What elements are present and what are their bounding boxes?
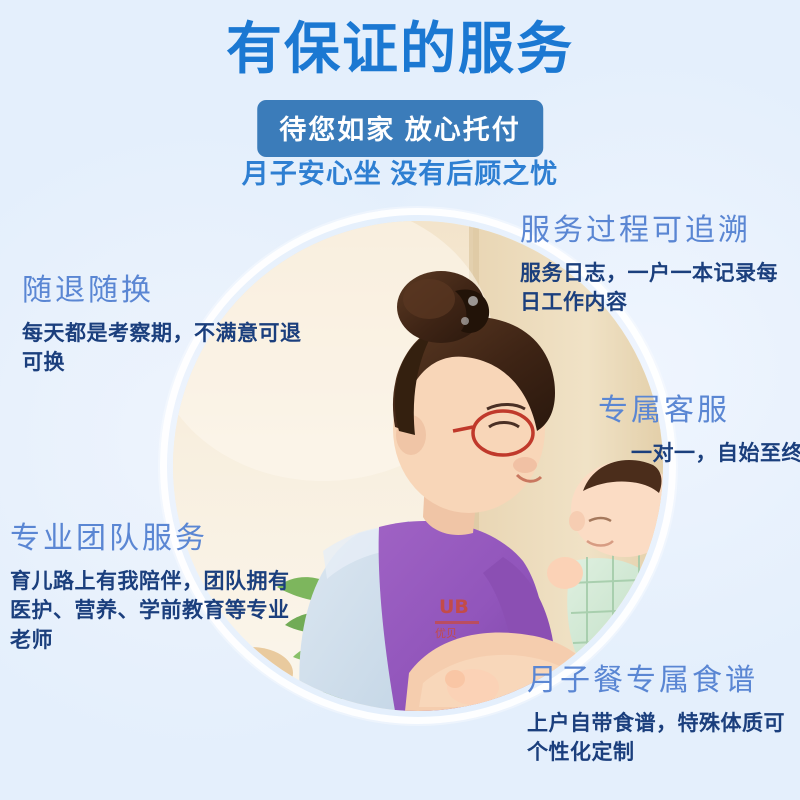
feature-trace-heading: 服务过程可追溯 bbox=[520, 212, 795, 250]
feature-team-heading: 专业团队服务 bbox=[10, 520, 300, 558]
feature-meal-heading: 月子餐专属食谱 bbox=[527, 662, 800, 700]
feature-trace-body: 服务日志，一户一本记录每日工作内容 bbox=[520, 259, 795, 319]
feature-team: 专业团队服务 育儿路上有我陪伴，团队拥有医护、营养、学前教育等专业老师 bbox=[10, 520, 300, 656]
feature-return-heading: 随退随换 bbox=[22, 272, 322, 310]
feature-team-body: 育儿路上有我陪伴，团队拥有医护、营养、学前教育等专业老师 bbox=[10, 567, 300, 656]
feature-return: 随退随换 每天都是考察期，不满意可退可换 bbox=[22, 272, 322, 378]
feature-trace: 服务过程可追溯 服务日志，一户一本记录每日工作内容 bbox=[520, 212, 795, 318]
tagline-ribbon: 待您如家 放心托付 bbox=[257, 100, 543, 157]
feature-return-body: 每天都是考察期，不满意可退可换 bbox=[22, 319, 322, 379]
promo-poster: UB 优贝 bbox=[0, 0, 800, 800]
page-title: 有保证的服务 bbox=[0, 18, 800, 81]
feature-support: 专属客服 一对一，自始至终 bbox=[598, 392, 800, 468]
feature-meal: 月子餐专属食谱 上户自带食谱，特殊体质可个性化定制 bbox=[527, 662, 800, 768]
page-subtitle: 月子安心坐 没有后顾之忧 bbox=[0, 152, 800, 191]
feature-meal-body: 上户自带食谱，特殊体质可个性化定制 bbox=[527, 709, 800, 769]
feature-support-body: 一对一，自始至终 bbox=[598, 439, 800, 469]
feature-support-heading: 专属客服 bbox=[598, 392, 800, 430]
